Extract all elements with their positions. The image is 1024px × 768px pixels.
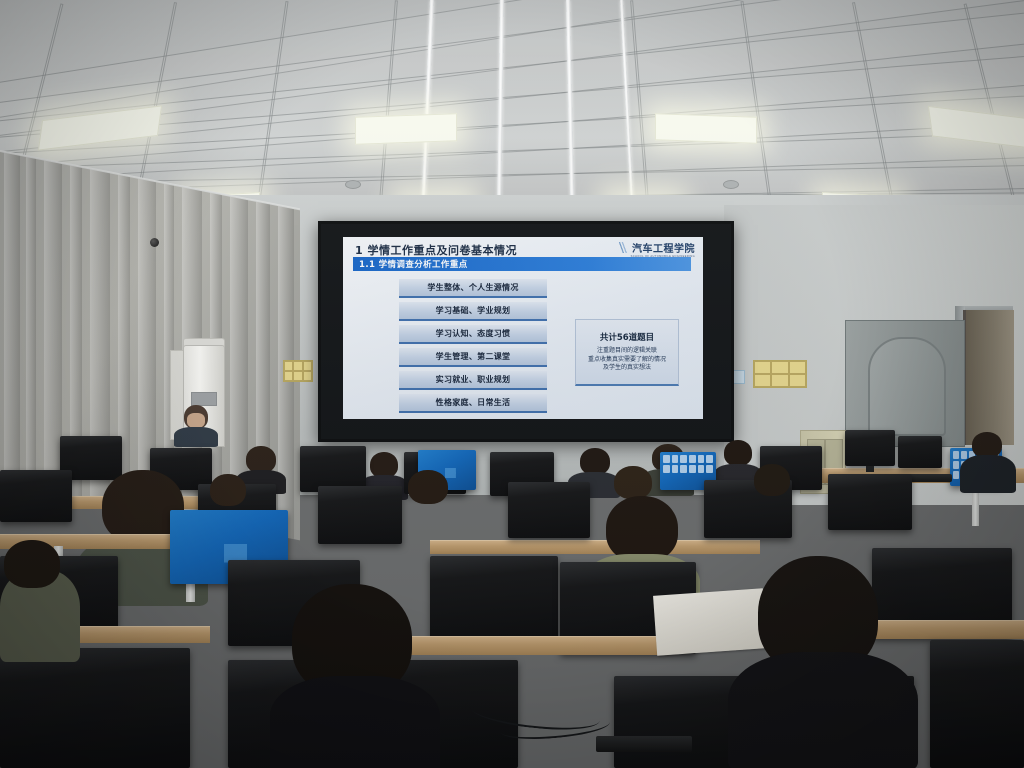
institution-logo: 汽车工程学院 SCHOOL OF AUTOMOBILE ENGINEERING <box>631 240 695 258</box>
topic-label: 学生管理、第二课堂 <box>436 351 511 362</box>
keyboard[interactable] <box>596 736 692 752</box>
seated-attendee <box>728 556 918 768</box>
topic-label: 学习基础、学业规划 <box>436 305 511 316</box>
seated-attendee <box>392 470 462 532</box>
keyboard[interactable] <box>906 474 952 482</box>
slide-title: 1 学情工作重点及问卷基本情况 <box>355 242 517 258</box>
presentation-slide: 1 学情工作重点及问卷基本情况 汽车工程学院 SCHOOL OF AUTOMOB… <box>343 237 703 419</box>
powered-off-monitor[interactable] <box>318 486 402 544</box>
presenter-at-front-desk <box>170 405 220 445</box>
callout-line-1: 注重题目间的逻辑关联 <box>597 347 657 356</box>
ceiling-camera <box>150 238 159 247</box>
door-arch-panel <box>868 337 946 436</box>
topic-label: 学习认知、态度习惯 <box>436 328 511 339</box>
powered-off-monitor[interactable] <box>898 436 942 468</box>
slide-section-band: 1.1 学情调查分析工作重点 <box>353 257 691 271</box>
logo-chinese-name: 汽车工程学院 <box>631 240 695 255</box>
safety-notice-sign-right <box>753 360 807 388</box>
callout-heading: 共计56道题目 <box>600 331 654 343</box>
seated-attendee <box>270 584 440 768</box>
question-count-callout: 共计56道题目 注重题目间的逻辑关联 重点收集真实需要了解的情况 及学生的真实想… <box>575 319 679 386</box>
powered-off-monitor[interactable] <box>430 556 558 640</box>
topic-label: 学生整体、个人生源情况 <box>427 282 518 293</box>
ceiling-light-panel <box>655 113 757 144</box>
topic-item-6: 性格家庭、日常生活 <box>399 394 547 413</box>
powered-off-monitor[interactable] <box>508 482 590 538</box>
powered-off-monitor[interactable] <box>845 430 895 466</box>
topic-item-3: 学习认知、态度习惯 <box>399 325 547 344</box>
topic-label: 实习就业、职业规划 <box>436 374 511 385</box>
callout-line-3: 及学生的真实想法 <box>603 364 651 373</box>
seated-attendee <box>960 432 1016 492</box>
seated-attendee <box>0 540 80 660</box>
ac-display-panel <box>191 392 217 406</box>
desktop-icons <box>663 455 712 482</box>
gray-steel-door[interactable] <box>845 320 965 447</box>
powered-off-monitor[interactable] <box>930 640 1024 768</box>
topic-item-2: 学习基础、学业规划 <box>399 302 547 321</box>
ceiling-vent <box>723 180 739 189</box>
ceiling-light-panel <box>355 113 457 145</box>
open-doorway[interactable] <box>963 310 1014 445</box>
seated-attendee <box>740 464 804 522</box>
classroom-photo-scene: 1 学情工作重点及问卷基本情况 汽车工程学院 SCHOOL OF AUTOMOB… <box>0 0 1024 768</box>
projection-screen[interactable]: 1 学情工作重点及问卷基本情况 汽车工程学院 SCHOOL OF AUTOMOB… <box>318 221 734 442</box>
topic-label: 性格家庭、日常生活 <box>436 397 511 408</box>
topic-item-1: 学生整体、个人生源情况 <box>399 279 547 298</box>
safety-notice-sign-left <box>283 360 313 382</box>
powered-off-monitor[interactable] <box>0 648 190 768</box>
swoosh-icon <box>615 242 628 253</box>
topic-item-5: 实习就业、职业规划 <box>399 371 547 390</box>
powered-off-monitor[interactable] <box>828 474 912 530</box>
ceiling-vent <box>345 180 361 189</box>
topic-item-4: 学生管理、第二课堂 <box>399 348 547 367</box>
slide-section-label: 1.1 学情调查分析工作重点 <box>353 258 468 270</box>
powered-off-monitor[interactable] <box>0 470 72 522</box>
